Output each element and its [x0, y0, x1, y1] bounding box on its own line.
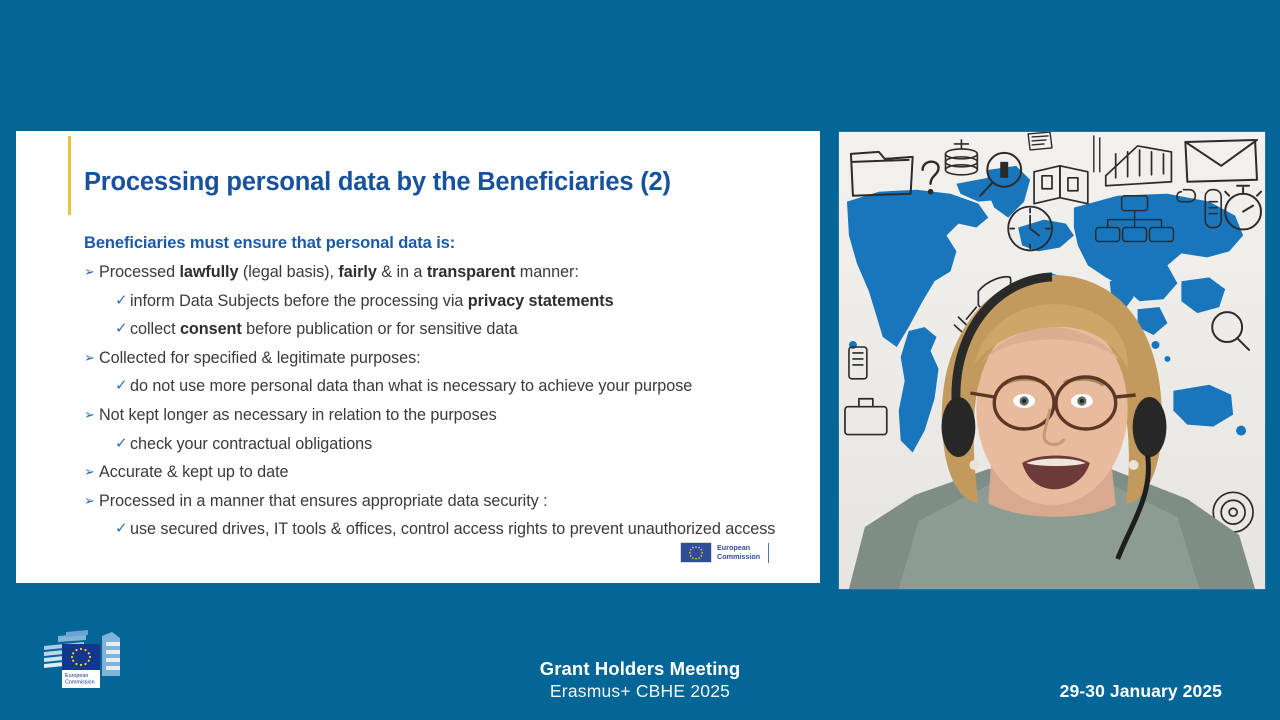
- bullet-text-part: check your contractual obligations: [130, 435, 372, 453]
- eu-stars-icon: [681, 543, 711, 563]
- bullet-text-part: lawfully: [179, 263, 238, 281]
- bullet-text-part: transparent: [427, 263, 516, 281]
- bullet-text-part: Processed: [99, 263, 179, 281]
- participant-earring-right: [1129, 460, 1139, 470]
- bullet-text-part: inform Data Subjects before the processi…: [130, 292, 468, 310]
- question-mark-icon: [923, 162, 939, 194]
- slide-bullet-item: ➢Collected for specified & legitimate pu…: [84, 344, 804, 373]
- slide-bullet-list: ➢Processed lawfully (legal basis), fairl…: [84, 258, 804, 544]
- slide-bullet-item: ➢Accurate & kept up to date: [84, 458, 804, 487]
- slide-bullet-item: ✓inform Data Subjects before the process…: [84, 287, 804, 316]
- bullet-text-part: Collected for specified & legitimate pur…: [99, 349, 421, 367]
- slide-eu-commission-logo: European Commission: [680, 542, 769, 563]
- slide-edge-tick: [768, 543, 769, 563]
- bullet-text-part: manner:: [515, 263, 578, 281]
- bullet-text-part: use secured drives, IT tools & offices, …: [130, 520, 775, 538]
- bullet-text-part: collect: [130, 320, 180, 338]
- check-bullet-icon: ✓: [115, 315, 128, 344]
- webcam-video-tile[interactable]: [838, 131, 1266, 590]
- coins-stack-icon: [945, 140, 977, 175]
- envelope-icon: [1185, 140, 1257, 182]
- slide-eu-logo-text: European Commission: [717, 544, 760, 561]
- title-accent-bar: [68, 136, 71, 215]
- check-bullet-icon: ✓: [115, 430, 128, 459]
- bullet-text-part: privacy statements: [468, 292, 614, 310]
- arrow-bullet-icon: ➢: [84, 344, 95, 373]
- slide-bullet-item: ➢Not kept longer as necessary in relatio…: [84, 401, 804, 430]
- participant-earring-left: [969, 460, 979, 470]
- bullet-text-part: Accurate & kept up to date: [99, 463, 288, 481]
- bullet-text-part: consent: [180, 320, 242, 338]
- presentation-stage: Processing personal data by the Benefici…: [0, 0, 1280, 720]
- webcam-participant: [839, 259, 1265, 589]
- bullet-text-part: Processed in a manner that ensures appro…: [99, 492, 548, 510]
- slide-bullet-item: ✓do not use more personal data than what…: [84, 372, 804, 401]
- slide-bullet-item: ✓check your contractual obligations: [84, 430, 804, 459]
- slide-subtitle: Beneficiaries must ensure that personal …: [84, 234, 455, 253]
- arrow-bullet-icon: ➢: [84, 401, 95, 430]
- wall-clock-icon: [1008, 207, 1052, 251]
- eu-flag-icon: [680, 542, 712, 563]
- bullet-text-part: do not use more personal data than what …: [130, 377, 692, 395]
- arrow-bullet-icon: ➢: [84, 487, 95, 516]
- check-bullet-icon: ✓: [115, 515, 128, 544]
- arrow-bullet-icon: ➢: [84, 258, 95, 287]
- bank-building-icon: [1106, 146, 1172, 186]
- check-bullet-icon: ✓: [115, 372, 128, 401]
- slide-bullet-item: ✓use secured drives, IT tools & offices,…: [84, 515, 804, 544]
- org-chart-icon: [1096, 196, 1174, 242]
- bullet-text-part: (legal basis),: [238, 263, 338, 281]
- magnifier-info-icon: [980, 153, 1021, 196]
- slide-eu-logo-line2: Commission: [717, 553, 760, 562]
- arrow-bullet-icon: ➢: [84, 458, 95, 487]
- stopwatch-icon: [1225, 186, 1261, 230]
- meeting-date: 29-30 January 2025: [1060, 681, 1222, 702]
- folder-icon: [851, 152, 913, 196]
- open-book-icon: [1034, 166, 1088, 204]
- usb-stick-icon: [1205, 190, 1221, 228]
- paperclip-icon: [1177, 190, 1195, 202]
- bullet-text-part: Not kept longer as necessary in relation…: [99, 406, 497, 424]
- slide-title: Processing personal data by the Benefici…: [84, 168, 814, 197]
- bullet-text-part: fairly: [338, 263, 376, 281]
- bullet-text-part: before publication or for sensitive data: [242, 320, 518, 338]
- slide-panel: Processing personal data by the Benefici…: [16, 131, 820, 583]
- slide-bullet-item: ✓collect consent before publication or f…: [84, 315, 804, 344]
- meeting-title: Grant Holders Meeting: [0, 658, 1280, 680]
- slide-bullet-item: ➢Processed in a manner that ensures appr…: [84, 487, 804, 516]
- bullet-text-part: & in a: [377, 263, 427, 281]
- slide-bullet-item: ➢Processed lawfully (legal basis), fairl…: [84, 258, 804, 287]
- check-bullet-icon: ✓: [115, 287, 128, 316]
